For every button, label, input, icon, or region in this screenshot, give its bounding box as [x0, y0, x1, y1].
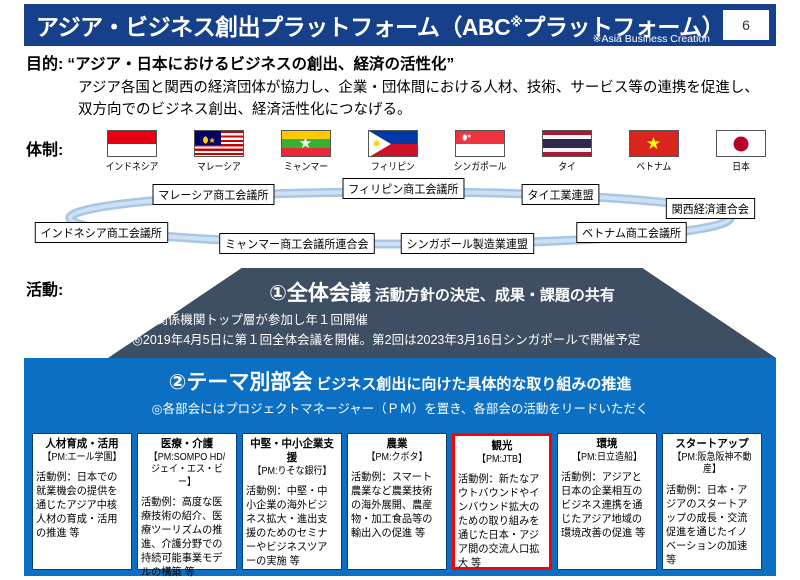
activity-label: 活動: — [26, 276, 63, 300]
subcommittee-title: ②テーマ別部会ビジネス創出に向けた具体的な取り組みの推進 — [169, 366, 632, 396]
general-meeting-trapezoid — [108, 268, 776, 358]
column-pm: 【PM:クボタ】 — [356, 452, 439, 465]
column-pm: 【PM:日立造船】 — [566, 452, 649, 465]
indonesia-flag-icon — [107, 130, 157, 157]
country-item-philippines: ✹ フィリピン — [349, 130, 436, 173]
column-pm: 【PM:JTB】 — [462, 454, 541, 467]
country-label: 日本 — [732, 158, 750, 173]
purpose-headline: “アジア・日本におけるビジネスの創出、経済の活性化” — [67, 52, 454, 74]
column-title: 観光 — [460, 440, 544, 454]
org-box-indonesia: インドネシア商工会議所 — [35, 222, 168, 243]
subcommittee-column-tourism[interactable]: 観光 【PM:JTB】 活動例：新たなアウトバウンドやインバウンド拡大のための取… — [452, 433, 552, 570]
country-item-japan: 日本 — [697, 130, 784, 173]
country-label: マレーシア — [197, 158, 241, 173]
philippines-flag-icon: ✹ — [368, 130, 418, 157]
purpose-section: 目的: “アジア・日本におけるビジネスの創出、経済の活性化” アジア各国と関西の… — [26, 50, 786, 122]
column-title: スタートアップ — [668, 438, 755, 452]
column-title: 環境 — [563, 438, 650, 452]
column-pm: 【PM:SOMPO HD/ジェイ・エス・ビー】 — [146, 452, 229, 490]
page-title-main: アジア・ビジネス創出プラットフォーム（ABC — [36, 14, 510, 40]
column-body: 活動例：日本・アジアのスタートアップの成長・交流促進を通じたイノベーションの加速… — [666, 484, 755, 568]
purpose-label: 目的: — [26, 50, 63, 74]
org-box-singapore: シンガポール製造業連盟 — [401, 233, 534, 254]
page-number-badge: 6 — [722, 9, 770, 41]
column-title: 人材育成・活用 — [38, 438, 125, 452]
structure-label: 体制: — [26, 136, 63, 160]
column-body: 活動例：アジアと日本の企業相互のビジネス連携を通じたアジア地域の環境改善の促進 … — [561, 471, 650, 541]
title-footnote: ※Asia Business Creation — [593, 33, 710, 45]
subcommittee-column-environment[interactable]: 環境 【PM:日立造船】 活動例：アジアと日本の企業相互のビジネス連携を通じたア… — [557, 433, 657, 570]
org-box-myanmar: ミャンマー商工会議所連合会 — [219, 233, 374, 254]
purpose-body: アジア各国と関西の経済団体が協力し、企業・団体間における人材、技術、サービス等の… — [78, 78, 786, 122]
column-body: 活動例：高度な医療技術の紹介、医療ツーリズムの推進、介護分野での持続可能事業モデ… — [141, 496, 230, 580]
column-title: 医療・介護 — [143, 438, 230, 452]
org-box-thailand: タイ工業連盟 — [522, 184, 600, 205]
subcommittee-column-startup[interactable]: スタートアップ 【PM:阪急阪神不動産】 活動例：日本・アジアのスタートアップの… — [662, 433, 762, 570]
vietnam-flag-icon: ★ — [629, 130, 679, 157]
country-flag-row: インドネシア ★ マレーシア ★ ミャンマー ✹ フィリピン ★ シンガポール … — [88, 130, 788, 173]
country-label: タイ — [558, 158, 576, 173]
slide-title-bar: アジア・ビジネス創出プラットフォーム（ABC※プラットフォーム） ※Asia B… — [24, 4, 776, 46]
purpose-headline-row: 目的: “アジア・日本におけるビジネスの創出、経済の活性化” — [26, 50, 786, 74]
thailand-flag-icon — [542, 130, 592, 157]
organization-ring-diagram: マレーシア商工会議所 フィリピン商工会議所 タイ工業連盟 関西経済連合会 インド… — [24, 178, 776, 258]
purpose-line-2: 双方向でのビジネス創出、経済活性化につなげる。 — [78, 100, 786, 122]
column-pm: 【PM:エール学園】 — [41, 452, 124, 465]
country-label: インドネシア — [105, 158, 158, 173]
country-item-malaysia: ★ マレーシア — [175, 130, 262, 173]
column-body: 活動例：スマート農業など農業技術の海外展開、農産物・加工食品等の輸出入の促進 等 — [351, 471, 440, 541]
subcommittee-bullet: ◎各部会にはプロジェクトマネージャー（ＰＭ）を置き、各部会の活動をリードいただく — [152, 398, 649, 417]
subcommittee-column-sme[interactable]: 中堅・中小企業支援 【PM:りそな銀行】 活動例：中堅・中小企業の海外ビジネス拡… — [242, 433, 342, 570]
column-pm: 【PM:りそな銀行】 — [251, 466, 334, 479]
column-pm: 【PM:阪急阪神不動産】 — [671, 452, 754, 477]
country-label: ベトナム — [636, 158, 671, 173]
column-title: 中堅・中小企業支援 — [248, 438, 335, 466]
org-box-philippines: フィリピン商工会議所 — [343, 178, 465, 199]
country-item-myanmar: ★ ミャンマー — [262, 130, 349, 173]
country-item-thailand: タイ — [523, 130, 610, 173]
country-label: フィリピン — [371, 158, 415, 173]
org-box-kansai: 関西経済連合会 — [666, 198, 755, 219]
country-item-singapore: ★ シンガポール — [436, 130, 523, 173]
country-label: ミャンマー — [284, 158, 328, 173]
singapore-flag-icon: ★ — [455, 130, 505, 157]
title-asterisk-mark: ※ — [510, 14, 522, 29]
column-body: 活動例：新たなアウトバウンドやインバウンド拡大のための取り組みを通じた日本・アジ… — [458, 473, 543, 571]
myanmar-flag-icon: ★ — [281, 130, 331, 157]
column-title: 農業 — [353, 438, 440, 452]
column-body: 活動例：日本での就業機会の提供を通じたアジア中核人材の育成・活用の推進 等 — [36, 471, 125, 541]
subcommittee-column-list: 人材育成・活用 【PM:エール学園】 活動例：日本での就業機会の提供を通じたアジ… — [32, 433, 768, 570]
org-box-vietnam: ベトナム商工会議所 — [576, 222, 687, 243]
japan-flag-icon — [716, 130, 766, 157]
country-label: シンガポール — [453, 158, 506, 173]
subcommittee-subtitle: ビジネス創出に向けた具体的な取り組みの推進 — [316, 376, 631, 393]
malaysia-flag-icon: ★ — [194, 130, 244, 157]
org-box-malaysia: マレーシア商工会議所 — [153, 184, 275, 205]
country-item-vietnam: ★ ベトナム — [610, 130, 697, 173]
subcommittee-heading: ②テーマ別部会 — [169, 371, 313, 394]
subcommittee-column-medical[interactable]: 医療・介護 【PM:SOMPO HD/ジェイ・エス・ビー】 活動例：高度な医療技… — [137, 433, 237, 570]
country-item-indonesia: インドネシア — [88, 130, 175, 173]
purpose-line-1: アジア各国と関西の経済団体が協力し、企業・団体間における人材、技術、サービス等の… — [78, 78, 786, 100]
subcommittee-column-agriculture[interactable]: 農業 【PM:クボタ】 活動例：スマート農業など農業技術の海外展開、農産物・加工… — [347, 433, 447, 570]
column-body: 活動例：中堅・中小企業の海外ビジネス拡大・進出支援のためのセミナーやビジネスツア… — [246, 485, 335, 569]
subcommittee-column-hr[interactable]: 人材育成・活用 【PM:エール学園】 活動例：日本での就業機会の提供を通じたアジ… — [32, 433, 132, 570]
